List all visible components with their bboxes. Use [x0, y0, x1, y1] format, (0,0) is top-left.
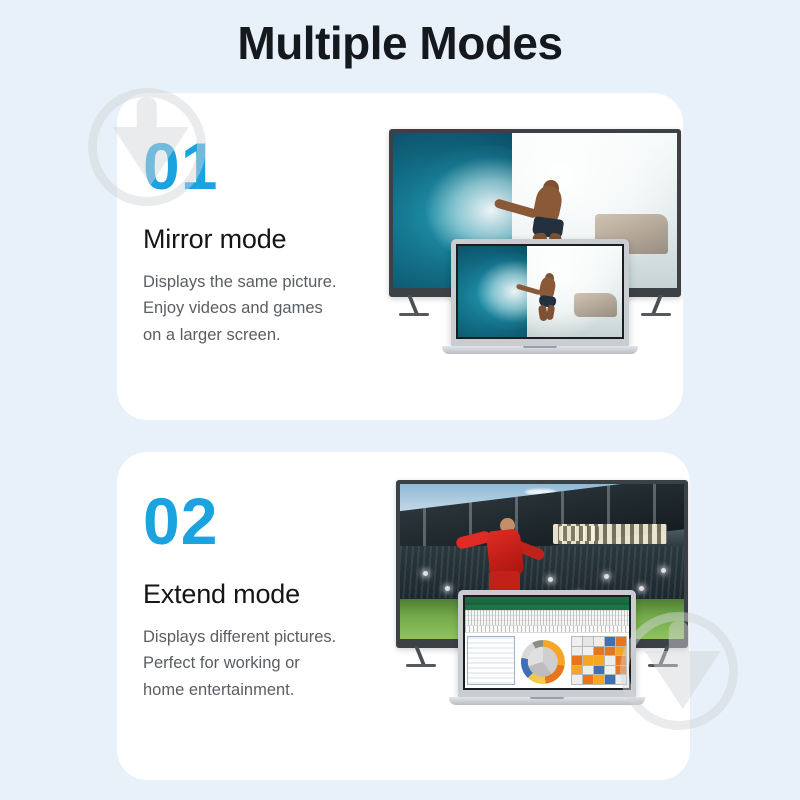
spreadsheet-ribbon [465, 605, 629, 626]
tv-foot-left [406, 664, 436, 667]
page-title: Multiple Modes [0, 16, 800, 70]
tv-leg-left [414, 646, 426, 665]
laptop-screen [463, 595, 631, 690]
tv-leg-left [407, 295, 419, 314]
spreadsheet-body [465, 633, 629, 688]
step-number: 01 [143, 135, 403, 198]
tv-foot-right [641, 313, 671, 316]
description-line: Perfect for working or [143, 650, 403, 677]
description-line: Enjoy videos and games [143, 295, 403, 322]
laptop-base [442, 346, 638, 354]
description-line: Displays the same picture. [143, 269, 403, 296]
card-text-block: 02 Extend mode Displays different pictur… [143, 490, 403, 704]
mode-description: Displays the same picture. Enjoy videos … [143, 269, 403, 349]
laptop-base [449, 697, 645, 705]
laptop-lid [451, 239, 629, 346]
tv-foot-right [648, 664, 678, 667]
description-line: Displays different pictures. [143, 624, 403, 651]
spreadsheet-data-grid [467, 636, 515, 685]
laptop [451, 239, 629, 354]
tv-leg-right [651, 295, 663, 314]
device-illustration-extend [396, 480, 690, 730]
spreadsheet-formula-bar [465, 626, 629, 633]
description-line: home entertainment. [143, 677, 403, 704]
mode-title: Mirror mode [143, 224, 403, 255]
heatmap-grid [571, 636, 627, 685]
spreadsheet-scene-image [465, 597, 629, 688]
spreadsheet-title-bar [465, 597, 629, 605]
device-illustration-mirror [389, 129, 683, 379]
tv-foot-left [399, 313, 429, 316]
wave-scene-mirrored [458, 246, 622, 337]
laptop [458, 590, 636, 705]
mode-description: Displays different pictures. Perfect for… [143, 624, 403, 704]
mode-title: Extend mode [143, 579, 403, 610]
donut-chart [517, 636, 570, 685]
tv-leg-right [658, 646, 670, 665]
description-line: on a larger screen. [143, 322, 403, 349]
surfer-figure [529, 273, 565, 320]
laptop-screen [456, 244, 624, 339]
mode-card-mirror[interactable]: 01 Mirror mode Displays the same picture… [117, 93, 683, 420]
laptop-lid [458, 590, 636, 697]
mode-card-extend[interactable]: 02 Extend mode Displays different pictur… [117, 452, 690, 780]
step-number: 02 [143, 490, 403, 553]
card-text-block: 01 Mirror mode Displays the same picture… [143, 135, 403, 349]
